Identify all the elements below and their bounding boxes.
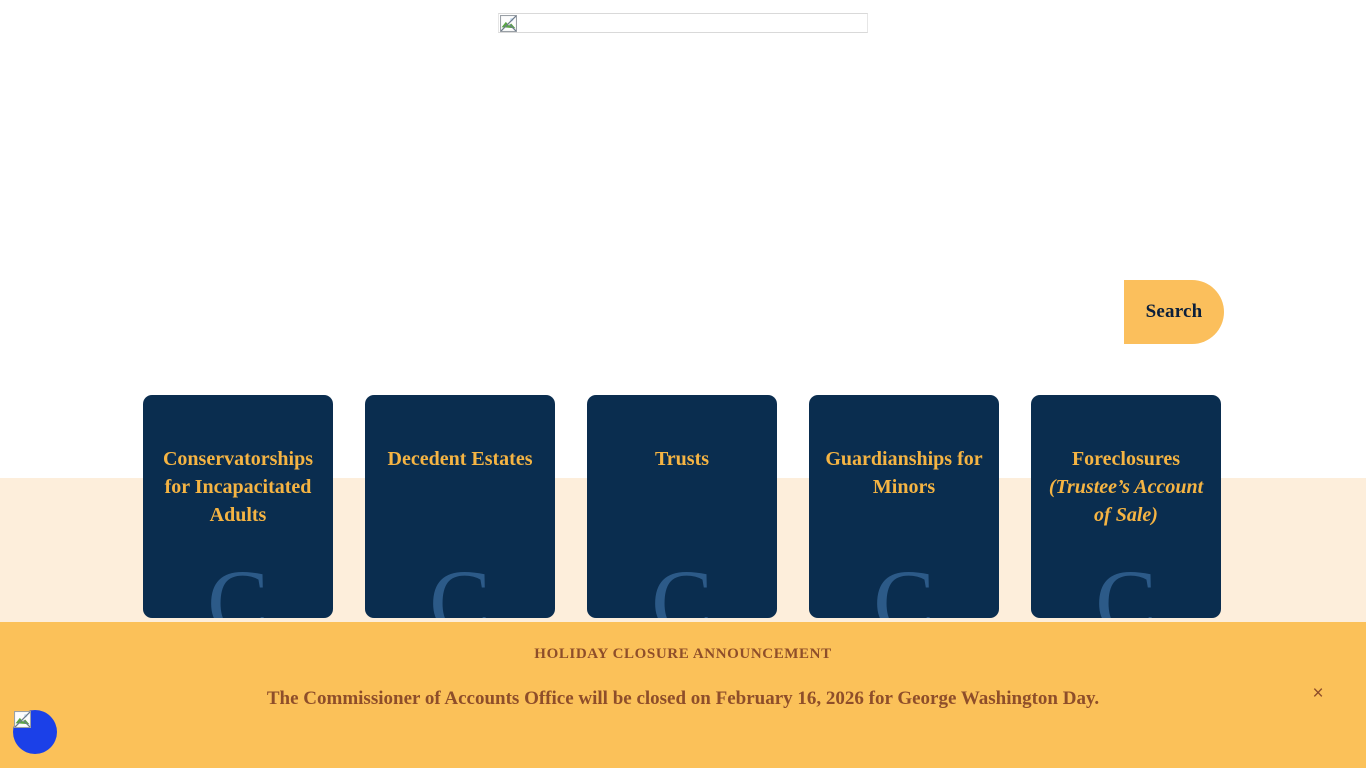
card-watermark-letter: C <box>143 556 333 618</box>
site-logo[interactable] <box>498 13 868 33</box>
category-card-title: Guardianships for Minors <box>821 445 987 501</box>
category-card-guardianships[interactable]: Guardianships for Minors C <box>809 395 999 618</box>
broken-image-icon <box>14 711 31 728</box>
category-card-title: Trusts <box>599 445 765 473</box>
announcement-banner: HOLIDAY CLOSURE ANNOUNCEMENT The Commiss… <box>0 622 1366 768</box>
card-watermark-letter: C <box>587 556 777 618</box>
category-title-text: Decedent Estates <box>388 448 533 470</box>
category-card-title: Conservatorships for Incapacitated Adult… <box>155 445 321 529</box>
category-card-decedent-estates[interactable]: Decedent Estates C <box>365 395 555 618</box>
category-card-title: Decedent Estates <box>377 445 543 473</box>
category-card-row: Conservatorships for Incapacitated Adult… <box>143 395 1223 618</box>
category-title-text: Foreclosures <box>1072 448 1180 470</box>
category-title-text: Guardianships for Minors <box>825 448 982 498</box>
category-card-trusts[interactable]: Trusts C <box>587 395 777 618</box>
accessibility-widget-button[interactable] <box>13 710 57 754</box>
announcement-body: The Commissioner of Accounts Office will… <box>240 684 1126 714</box>
search-button[interactable]: Search <box>1124 280 1224 344</box>
announcement-title: HOLIDAY CLOSURE ANNOUNCEMENT <box>0 646 1366 663</box>
close-icon[interactable]: × <box>1306 682 1330 706</box>
card-watermark-letter: C <box>1031 556 1221 618</box>
category-card-title: Foreclosures (Trustee’s Account of Sale) <box>1043 445 1209 529</box>
card-watermark-letter: C <box>365 556 555 618</box>
category-title-subtext: (Trustee’s Account of Sale) <box>1043 473 1209 529</box>
card-watermark-letter: C <box>809 556 999 618</box>
category-title-text: Trusts <box>655 448 709 470</box>
category-card-conservatorships[interactable]: Conservatorships for Incapacitated Adult… <box>143 395 333 618</box>
category-card-foreclosures[interactable]: Foreclosures (Trustee’s Account of Sale)… <box>1031 395 1221 618</box>
category-title-text: Conservatorships for Incapacitated Adult… <box>163 448 313 526</box>
broken-image-icon <box>500 15 517 32</box>
